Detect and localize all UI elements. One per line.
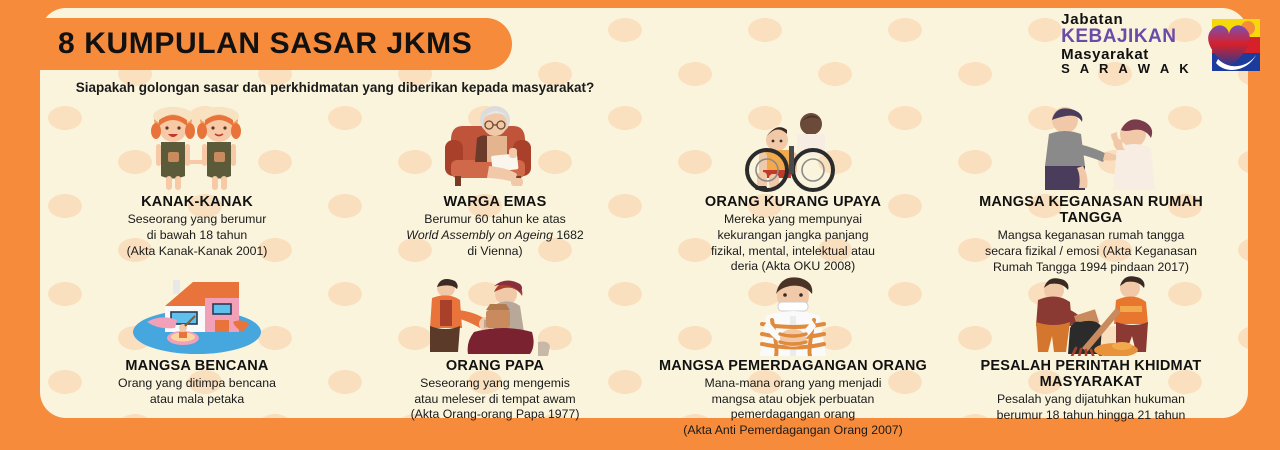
group-title: ORANG KURANG UPAYA [705,194,881,210]
group-title: MANGSA PEMERDAGANGAN ORANG [659,358,927,374]
group-description: Seseorang yang mengemis atau meleser di … [411,376,580,423]
group-description: Mereka yang mempunyai kekurangan jangka … [711,212,875,275]
illustration-slot [733,100,853,192]
illustration-slot [420,276,570,356]
group-title: MANGSA BENCANA [125,358,268,374]
group-card-mangsa-pemerdagangan-orang: MANGSA PEMERDAGANGAN ORANG Mana-mana ora… [644,276,942,439]
title-banner: 8 KUMPULAN SASAR JKMS [24,18,512,70]
wheelchair-user-icon [733,100,853,192]
illustration-slot [1016,276,1166,356]
agency-logo: Jabatan KEBAJIKAN Masyarakat S A R A W A… [1061,12,1262,75]
italic-source: World Assembly on Ageing [406,228,553,242]
group-card-pesalah-perintah-khidmat-masyarakat: PESALAH PERINTAH KHIDMAT MASYARAKAT Pesa… [942,276,1240,439]
group-description: Pesalah yang dijatuhkan hukuman berumur … [997,392,1186,423]
infographic-poster: 8 KUMPULAN SASAR JKMS Siapakah golongan … [0,0,1280,450]
group-title: ORANG PAPA [446,358,544,374]
group-card-kanak-kanak: KANAK-KANAK Seseorang yang berumur di ba… [48,100,346,276]
logo-line-masyarakat: Masyarakat [1061,47,1192,62]
heart-emblem-icon [1196,15,1262,73]
group-description: Mana-mana orang yang menjadi mangsa atau… [683,376,902,439]
group-card-orang-kurang-upaya: ORANG KURANG UPAYA Mereka yang mempunyai… [644,100,942,276]
group-card-orang-papa: ORANG PAPA Seseorang yang mengemis atau … [346,276,644,439]
illustration-slot [728,276,858,356]
page-title: 8 KUMPULAN SASAR JKMS [58,27,472,61]
beggar-icon [420,276,570,356]
illustration-slot [137,100,257,192]
logo-line-jabatan: Jabatan [1061,12,1192,27]
source-year: 1682 [553,228,584,242]
illustration-slot [431,100,559,192]
community-service-workers-icon [1016,276,1166,356]
logo-line-sarawak: S A R A W A K [1061,62,1192,75]
group-card-mangsa-keganasan-rumah-tangga: MANGSA KEGANASAN RUMAH TANGGA Mangsa keg… [942,100,1240,276]
illustration-slot [127,276,267,356]
elderly-in-armchair-icon [431,100,559,192]
illustration-slot [1021,100,1161,192]
group-description: Berumur 60 tahun ke atas World Assembly … [406,212,584,259]
group-title: WARGA EMAS [444,194,547,210]
logo-line-kebajikan: KEBAJIKAN [1061,27,1192,46]
group-title: MANGSA KEGANASAN RUMAH TANGGA [948,194,1234,226]
group-card-warga-emas: WARGA EMAS Berumur 60 tahun ke atas Worl… [346,100,644,276]
group-description: Mangsa keganasan rumah tangga secara fiz… [985,228,1197,275]
group-description: Seseorang yang berumur di bawah 18 tahun… [127,212,268,259]
flooded-house-icon [127,276,267,356]
target-groups-grid: KANAK-KANAK Seseorang yang berumur di ba… [48,100,1240,412]
group-card-mangsa-bencana: MANGSA BENCANA Orang yang ditimpa bencan… [48,276,346,439]
bound-person-icon [728,276,858,356]
logo-wordmark: Jabatan KEBAJIKAN Masyarakat S A R A W A… [1061,12,1192,75]
group-title: KANAK-KANAK [141,194,253,210]
subtitle-question: Siapakah golongan sasar dan perkhidmatan… [40,78,630,98]
two-children-icon [137,100,257,192]
group-title: PESALAH PERINTAH KHIDMAT MASYARAKAT [948,358,1234,390]
group-description: Orang yang ditimpa bencana atau mala pet… [118,376,276,407]
domestic-violence-icon [1021,100,1161,192]
